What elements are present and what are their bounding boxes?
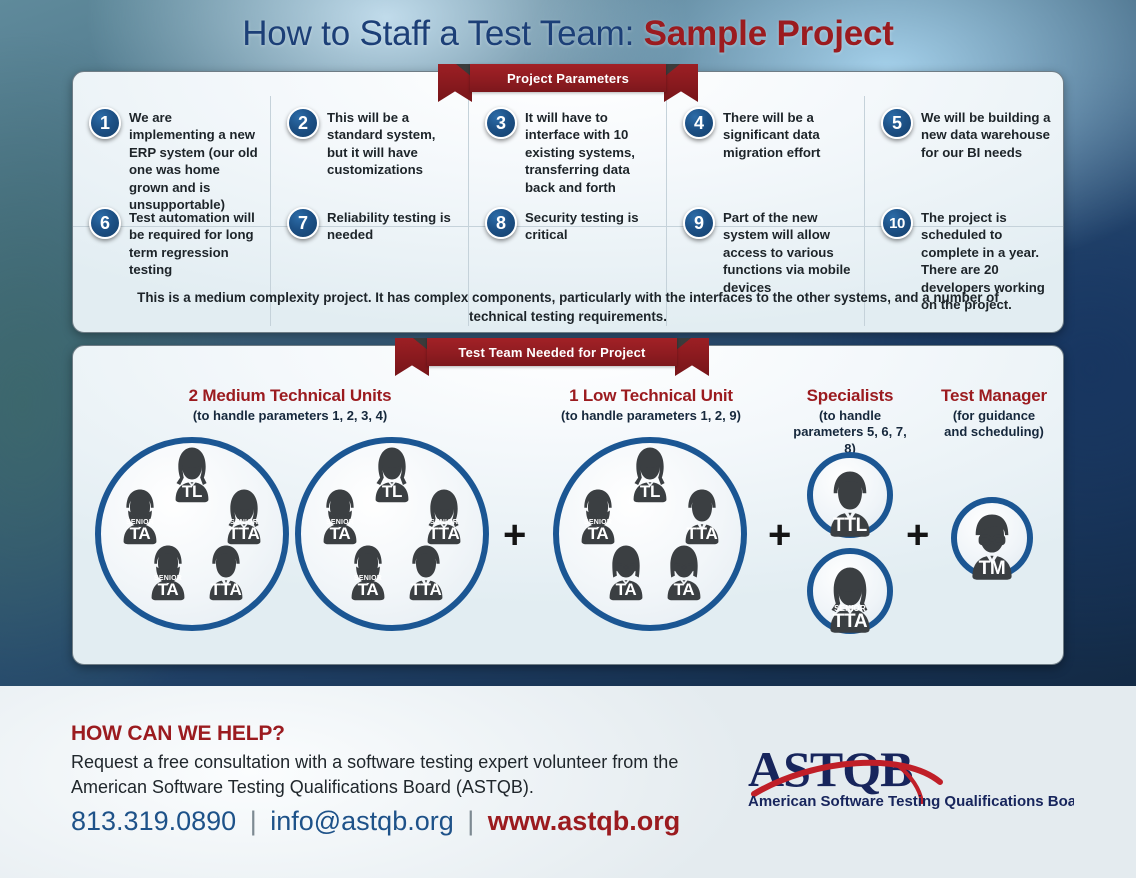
parameter-number-badge: 3 — [485, 107, 517, 139]
astqb-logo-icon: ASTQB American Software Testing Qualific… — [744, 742, 1074, 812]
team-member-medium-technical-unit-1-tta-4: TTA — [195, 541, 257, 603]
group-title: 2 Medium Technical Units — [100, 386, 480, 406]
ribbon-tail-left — [438, 64, 472, 102]
footer-separator-2: | — [461, 806, 480, 836]
astqb-logo: ASTQB American Software Testing Qualific… — [744, 742, 1074, 812]
footer-phone[interactable]: 813.319.0890 — [71, 806, 236, 836]
svg-text:ASTQB: ASTQB — [748, 742, 913, 797]
svg-text:American Software Testing Qual: American Software Testing Qualifications… — [748, 793, 1074, 810]
parameter-number-badge: 10 — [881, 207, 913, 239]
group-title: Test Manager — [920, 386, 1068, 406]
plus-operator-1: + — [503, 515, 526, 555]
team-member-medium-technical-unit-2-senior-tta-2: SENIORTTA — [413, 485, 475, 547]
team-member-low-technical-unit-1-ta-4: TA — [653, 541, 715, 603]
ribbon-label: Project Parameters — [470, 64, 666, 92]
parameter-number-badge: 6 — [89, 207, 121, 239]
group-subtitle: (for guidance and scheduling) — [920, 408, 1068, 441]
group-heading-test-manager: Test Manager (for guidance and schedulin… — [920, 386, 1068, 441]
parameter-text: There will be a significant data migrati… — [723, 106, 854, 161]
group-heading-medium-units: 2 Medium Technical Units (to handle para… — [100, 386, 480, 424]
group-subtitle: (to handle parameters 1, 2, 3, 4) — [100, 408, 480, 424]
plus-operator-2: + — [768, 515, 791, 555]
test-manager-tm: TM — [955, 509, 1029, 583]
team-member-medium-technical-unit-2-senior-ta-1: SENIORTA — [309, 485, 371, 547]
page-title-accent: Sample Project — [644, 14, 894, 53]
parameter-number-badge: 2 — [287, 107, 319, 139]
group-title: Specialists — [786, 386, 914, 406]
parameter-text: Test automation will be required for lon… — [129, 206, 260, 279]
team-member-medium-technical-unit-1-senior-ta-1: SENIORTA — [109, 485, 171, 547]
team-member-low-technical-unit-1-tta-2: TTA — [671, 485, 733, 547]
team-member-medium-technical-unit-2-senior-ta-3: SENIORTA — [337, 541, 399, 603]
group-title: 1 Low Technical Unit — [520, 386, 782, 406]
footer-separator-1: | — [244, 806, 263, 836]
footer-email[interactable]: info@astqb.org — [270, 806, 454, 836]
parameter-number-badge: 8 — [485, 207, 517, 239]
footer-contact-line: 813.319.0890 | info@astqb.org | www.astq… — [71, 808, 680, 835]
page-title: How to Staff a Test Team: Sample Project — [0, 14, 1136, 54]
parameter-number-badge: 1 — [89, 107, 121, 139]
footer-heading: HOW CAN WE HELP? — [71, 722, 285, 746]
parameter-text: Part of the new system will allow access… — [723, 206, 854, 296]
plus-operator-3: + — [906, 515, 929, 555]
ribbon-label: Test Team Needed for Project — [427, 338, 677, 366]
group-heading-specialists: Specialists (to handle parameters 5, 6, … — [786, 386, 914, 457]
parameter-number-badge: 7 — [287, 207, 319, 239]
specialist-ttl: TTL — [813, 466, 887, 540]
parameter-number-badge: 9 — [683, 207, 715, 239]
project-parameters-ribbon: Project Parameters — [470, 64, 666, 92]
team-member-medium-technical-unit-2-tta-4: TTA — [395, 541, 457, 603]
parameter-text: We will be building a new data warehouse… — [921, 106, 1053, 161]
parameter-text: Security testing is critical — [525, 206, 656, 244]
parameter-text: Reliability testing is needed — [327, 206, 458, 244]
specialist-senior-tta: SENIORTTA — [813, 562, 887, 636]
parameter-number-badge: 5 — [881, 107, 913, 139]
team-member-low-technical-unit-1-senior-ta-1: SENIORTA — [567, 485, 629, 547]
footer-website[interactable]: www.astqb.org — [488, 806, 681, 836]
team-member-medium-technical-unit-1-senior-tta-2: SENIORTTA — [213, 485, 275, 547]
footer-body-text: Request a free consultation with a softw… — [71, 750, 691, 800]
ribbon-tail-left — [395, 338, 429, 376]
parameter-number-badge: 4 — [683, 107, 715, 139]
group-heading-low-unit: 1 Low Technical Unit (to handle paramete… — [520, 386, 782, 424]
test-team-ribbon: Test Team Needed for Project — [427, 338, 677, 366]
complexity-summary: This is a medium complexity project. It … — [118, 288, 1018, 327]
ribbon-tail-right — [664, 64, 698, 102]
group-subtitle: (to handle parameters 5, 6, 7, 8) — [786, 408, 914, 457]
parameter-text: This will be a standard system, but it w… — [327, 106, 458, 179]
team-member-low-technical-unit-1-ta-3: TA — [595, 541, 657, 603]
ribbon-tail-right — [675, 338, 709, 376]
team-member-medium-technical-unit-1-senior-ta-3: SENIORTA — [137, 541, 199, 603]
page-title-main: How to Staff a Test Team: — [242, 14, 634, 53]
parameter-text: It will have to interface with 10 existi… — [525, 106, 656, 196]
group-subtitle: (to handle parameters 1, 2, 9) — [520, 408, 782, 424]
